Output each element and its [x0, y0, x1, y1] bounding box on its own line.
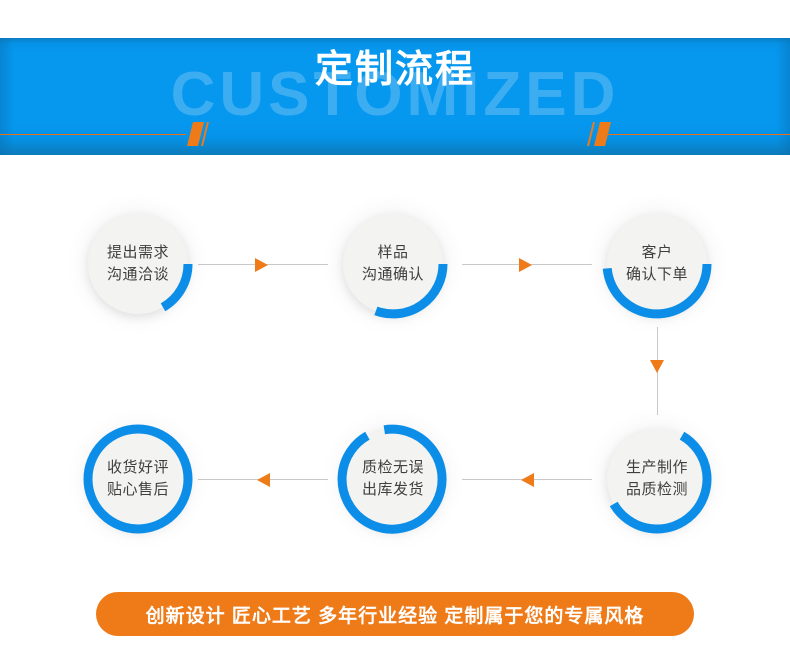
node-label-line1: 客户 [641, 242, 672, 264]
node-label: 质检无误 出库发货 [333, 419, 453, 539]
node-label-line1: 质检无误 [362, 457, 424, 479]
banner-rule-right [604, 134, 790, 135]
arrow-4-5-icon [521, 473, 534, 487]
node-label: 生产制作 品质检测 [597, 419, 717, 539]
node-label-line1: 收货好评 [107, 457, 169, 479]
node-label-line2: 沟通洽谈 [107, 264, 169, 286]
node-label: 提出需求 沟通洽谈 [78, 204, 198, 324]
footer-slogan-banner: 创新设计 匠心工艺 多年行业经验 定制属于您的专属风格 [96, 592, 694, 636]
node-label-line2: 品质检测 [626, 479, 688, 501]
flow-node-step-4[interactable]: 生产制作 品质检测 [597, 419, 717, 539]
node-label-line1: 样品 [377, 242, 408, 264]
flow-node-step-5[interactable]: 质检无误 出库发货 [333, 419, 453, 539]
node-label-line2: 确认下单 [626, 264, 688, 286]
banner-rule-left [0, 134, 186, 135]
flow-node-step-1[interactable]: 提出需求 沟通洽谈 [78, 204, 198, 324]
flow-node-step-6[interactable]: 收货好评 贴心售后 [78, 419, 198, 539]
node-label-line2: 贴心售后 [107, 479, 169, 501]
node-label: 收货好评 贴心售后 [78, 419, 198, 539]
node-label: 客户 确认下单 [597, 204, 717, 324]
arrow-3-4-icon [650, 360, 664, 373]
node-label-line2: 出库发货 [362, 479, 424, 501]
footer-slogan-text: 创新设计 匠心工艺 多年行业经验 定制属于您的专属风格 [146, 601, 645, 628]
flow-node-step-3[interactable]: 客户 确认下单 [597, 204, 717, 324]
arrow-5-6-icon [257, 473, 270, 487]
node-label: 样品 沟通确认 [333, 204, 453, 324]
node-label-line1: 生产制作 [626, 457, 688, 479]
page-title: 定制流程 [0, 48, 790, 92]
process-flow-diagram: 提出需求 沟通洽谈 样品 沟通确认 客户 确认下单 生产制作 品 [0, 155, 790, 575]
node-label-line2: 沟通确认 [362, 264, 424, 286]
arrow-1-2-icon [255, 258, 268, 272]
arrow-2-3-icon [519, 258, 532, 272]
flow-node-step-2[interactable]: 样品 沟通确认 [333, 204, 453, 324]
node-label-line1: 提出需求 [107, 242, 169, 264]
